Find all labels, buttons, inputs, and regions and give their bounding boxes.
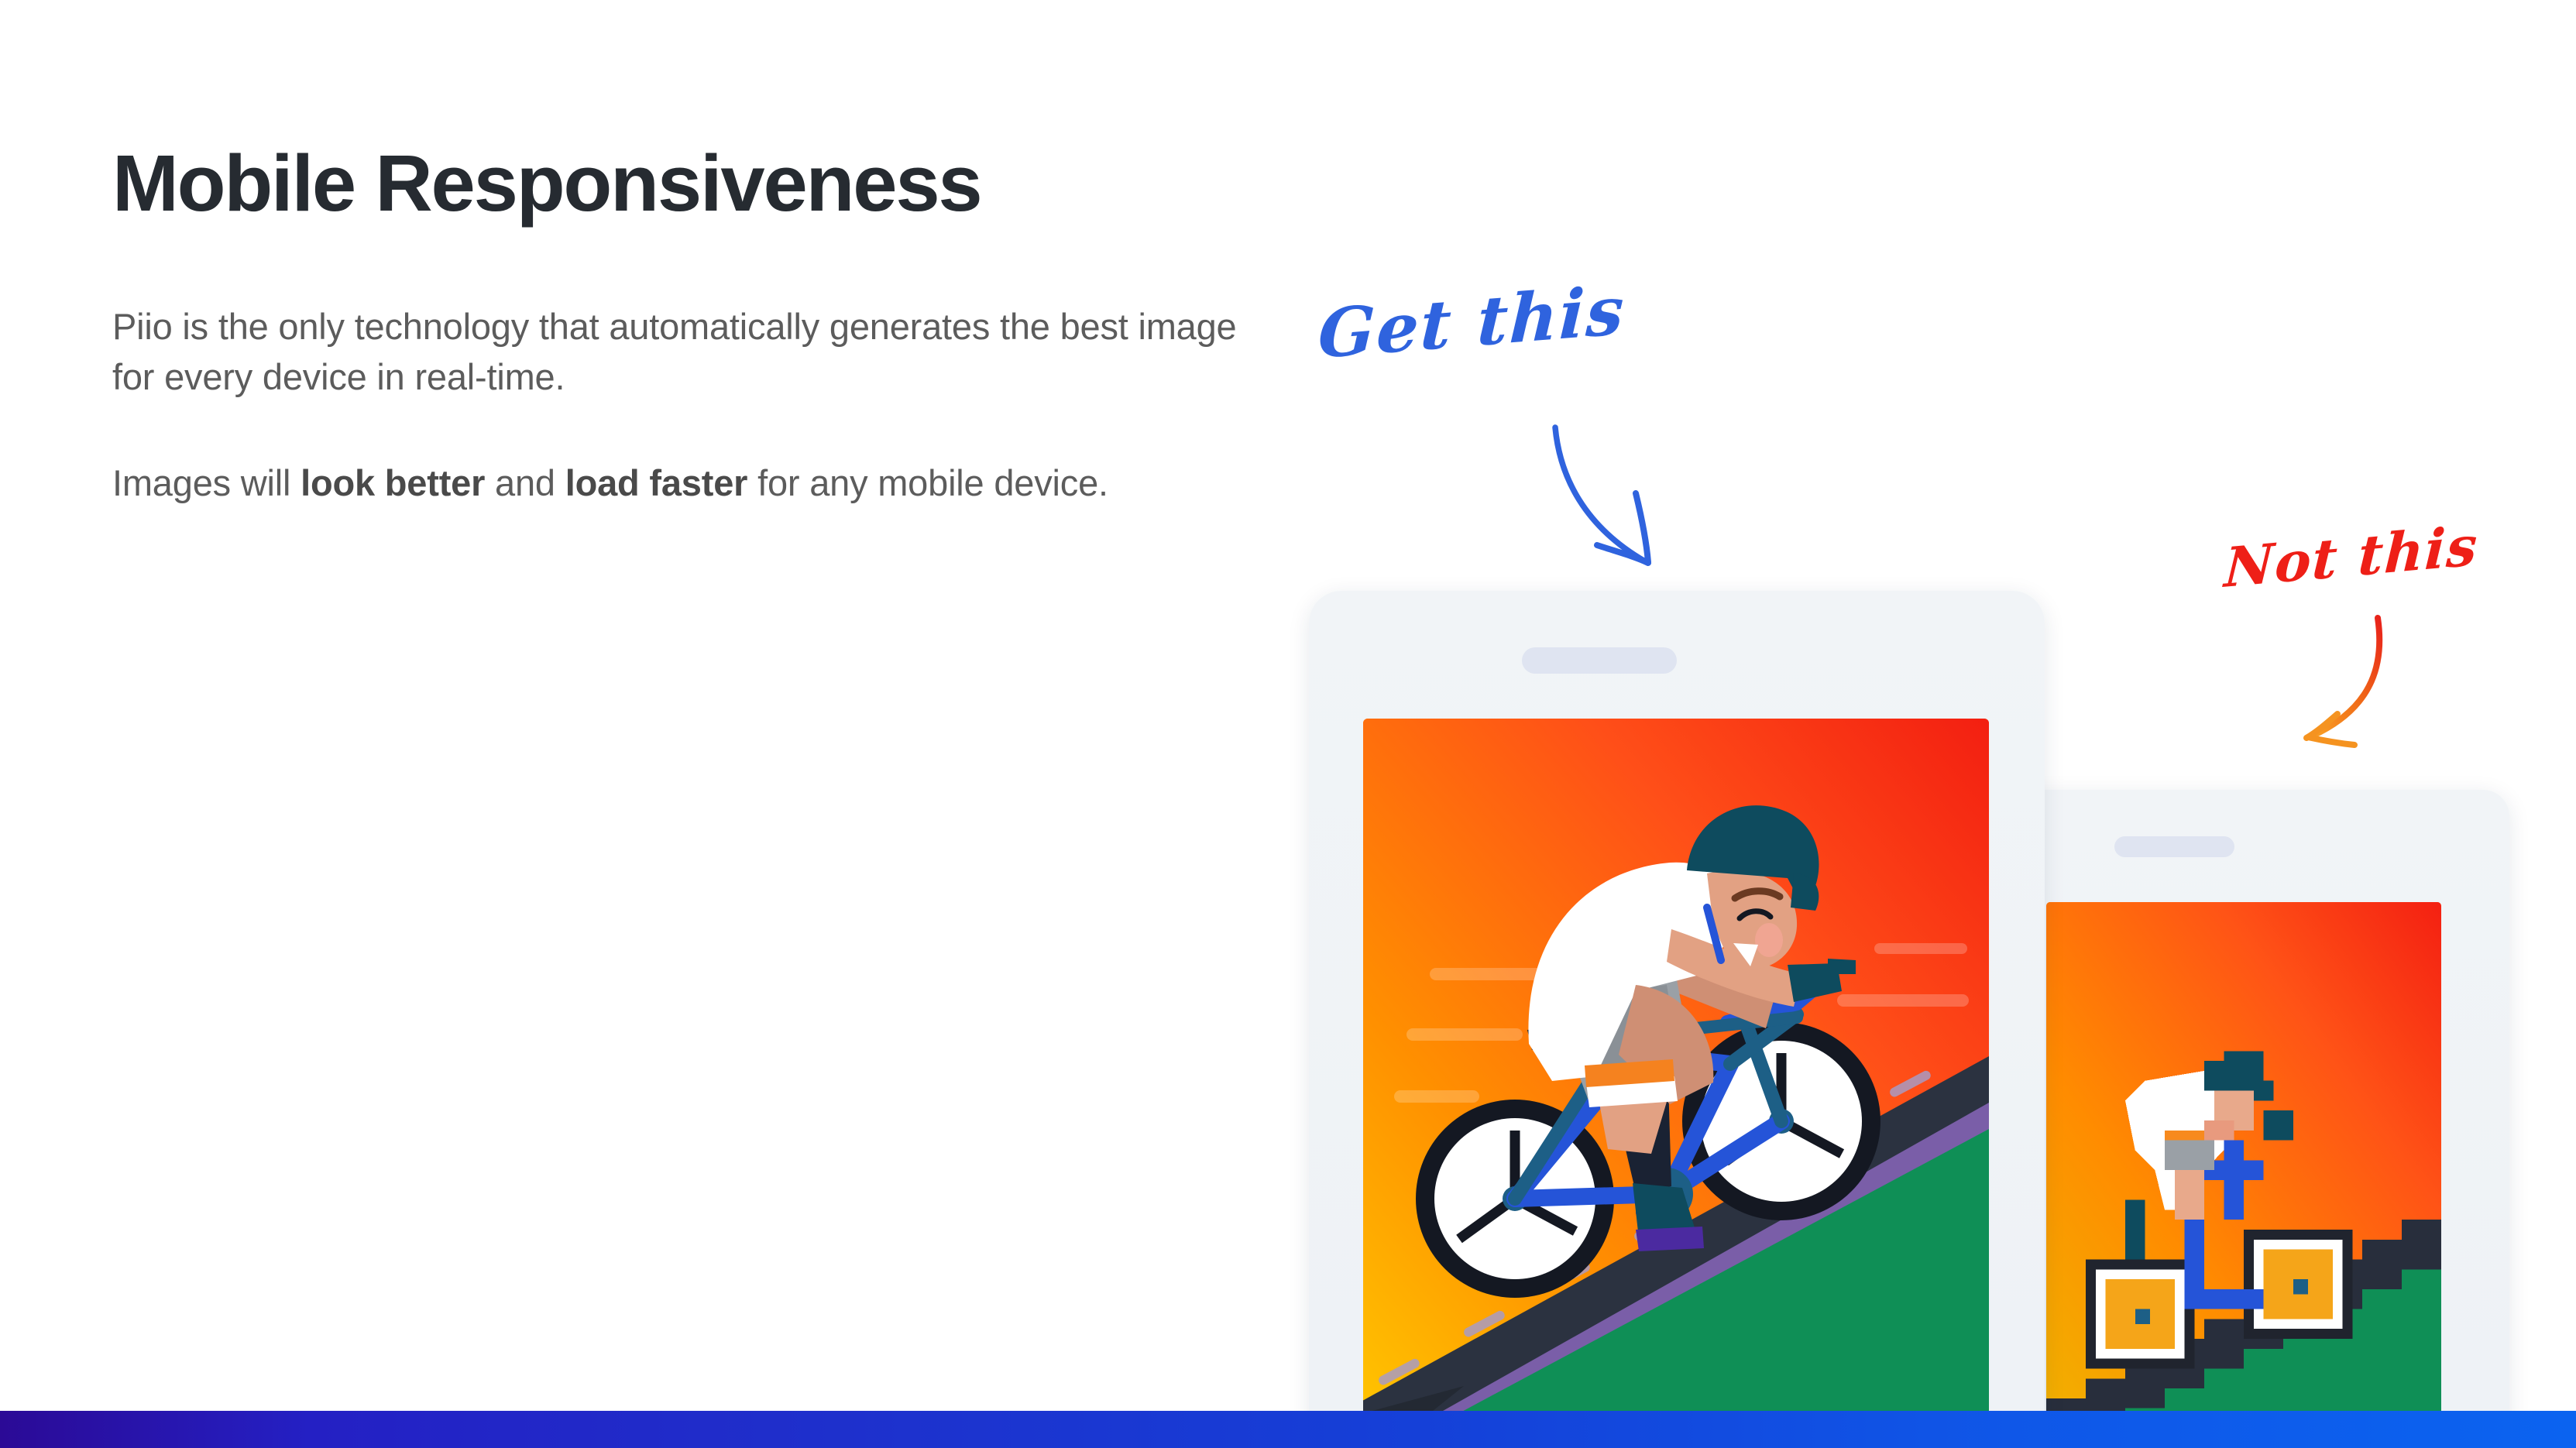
small-device-artwork [2046,902,2441,1448]
paragraph-benefit: Images will look better and load faster … [112,458,1259,509]
small-device-screen [2046,902,2441,1448]
large-device-screen [1363,719,1989,1448]
large-device-speaker [1522,647,1677,674]
paragraph-intro: Piio is the only technology that automat… [112,302,1259,403]
slide-canvas: Mobile Responsiveness Piio is the only t… [0,0,2576,1448]
small-device-mockup [1983,790,2509,1448]
benefit-run-0: Images will [112,462,301,503]
large-device-artwork [1363,719,1989,1448]
bottom-accent-bar [0,1411,2576,1448]
annotation-get-this-label: Get this [1317,271,1626,374]
annotation-not-this-label: Not this [2223,513,2480,600]
benefit-emphasis-load-faster: load faster [565,462,748,503]
curved-arrow-down-right-icon [1518,403,1696,588]
benefit-run-2: and [485,462,565,503]
benefit-emphasis-look-better: look better [301,462,485,503]
large-device-mockup [1309,591,2045,1448]
benefit-run-4: for any mobile device. [747,462,1108,503]
page-title: Mobile Responsiveness [112,143,1274,223]
small-device-speaker [2114,836,2234,857]
curved-arrow-down-left-icon [2262,612,2432,782]
copy-block: Mobile Responsiveness Piio is the only t… [112,143,1274,509]
paragraph-intro-text: Piio is the only technology that automat… [112,306,1237,397]
